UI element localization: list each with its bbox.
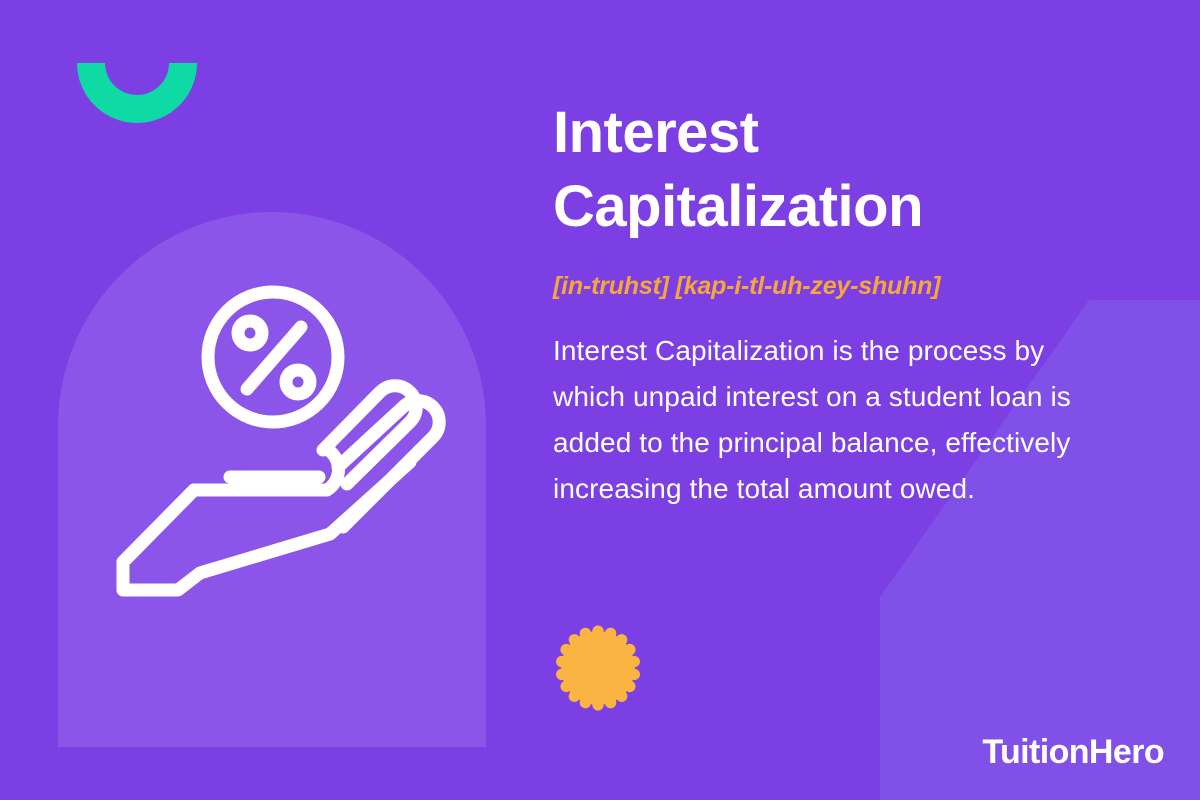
definition-card: Interest Capitalization [in-truhst] [kap… [0,0,1200,800]
hand-holding-percent-icon [95,285,450,600]
definition-text: Interest Capitalization is the process b… [553,328,1113,512]
page-title: Interest Capitalization [553,96,1113,244]
scalloped-badge-icon [552,622,644,714]
content-column: Interest Capitalization [in-truhst] [kap… [553,96,1113,512]
half-donut-arc-icon [77,63,197,123]
pronunciation-text: [in-truhst] [kap-i-tl-uh-zey-shuhn] [553,270,1113,302]
brand-logo[interactable]: TuitionHero [982,732,1164,772]
